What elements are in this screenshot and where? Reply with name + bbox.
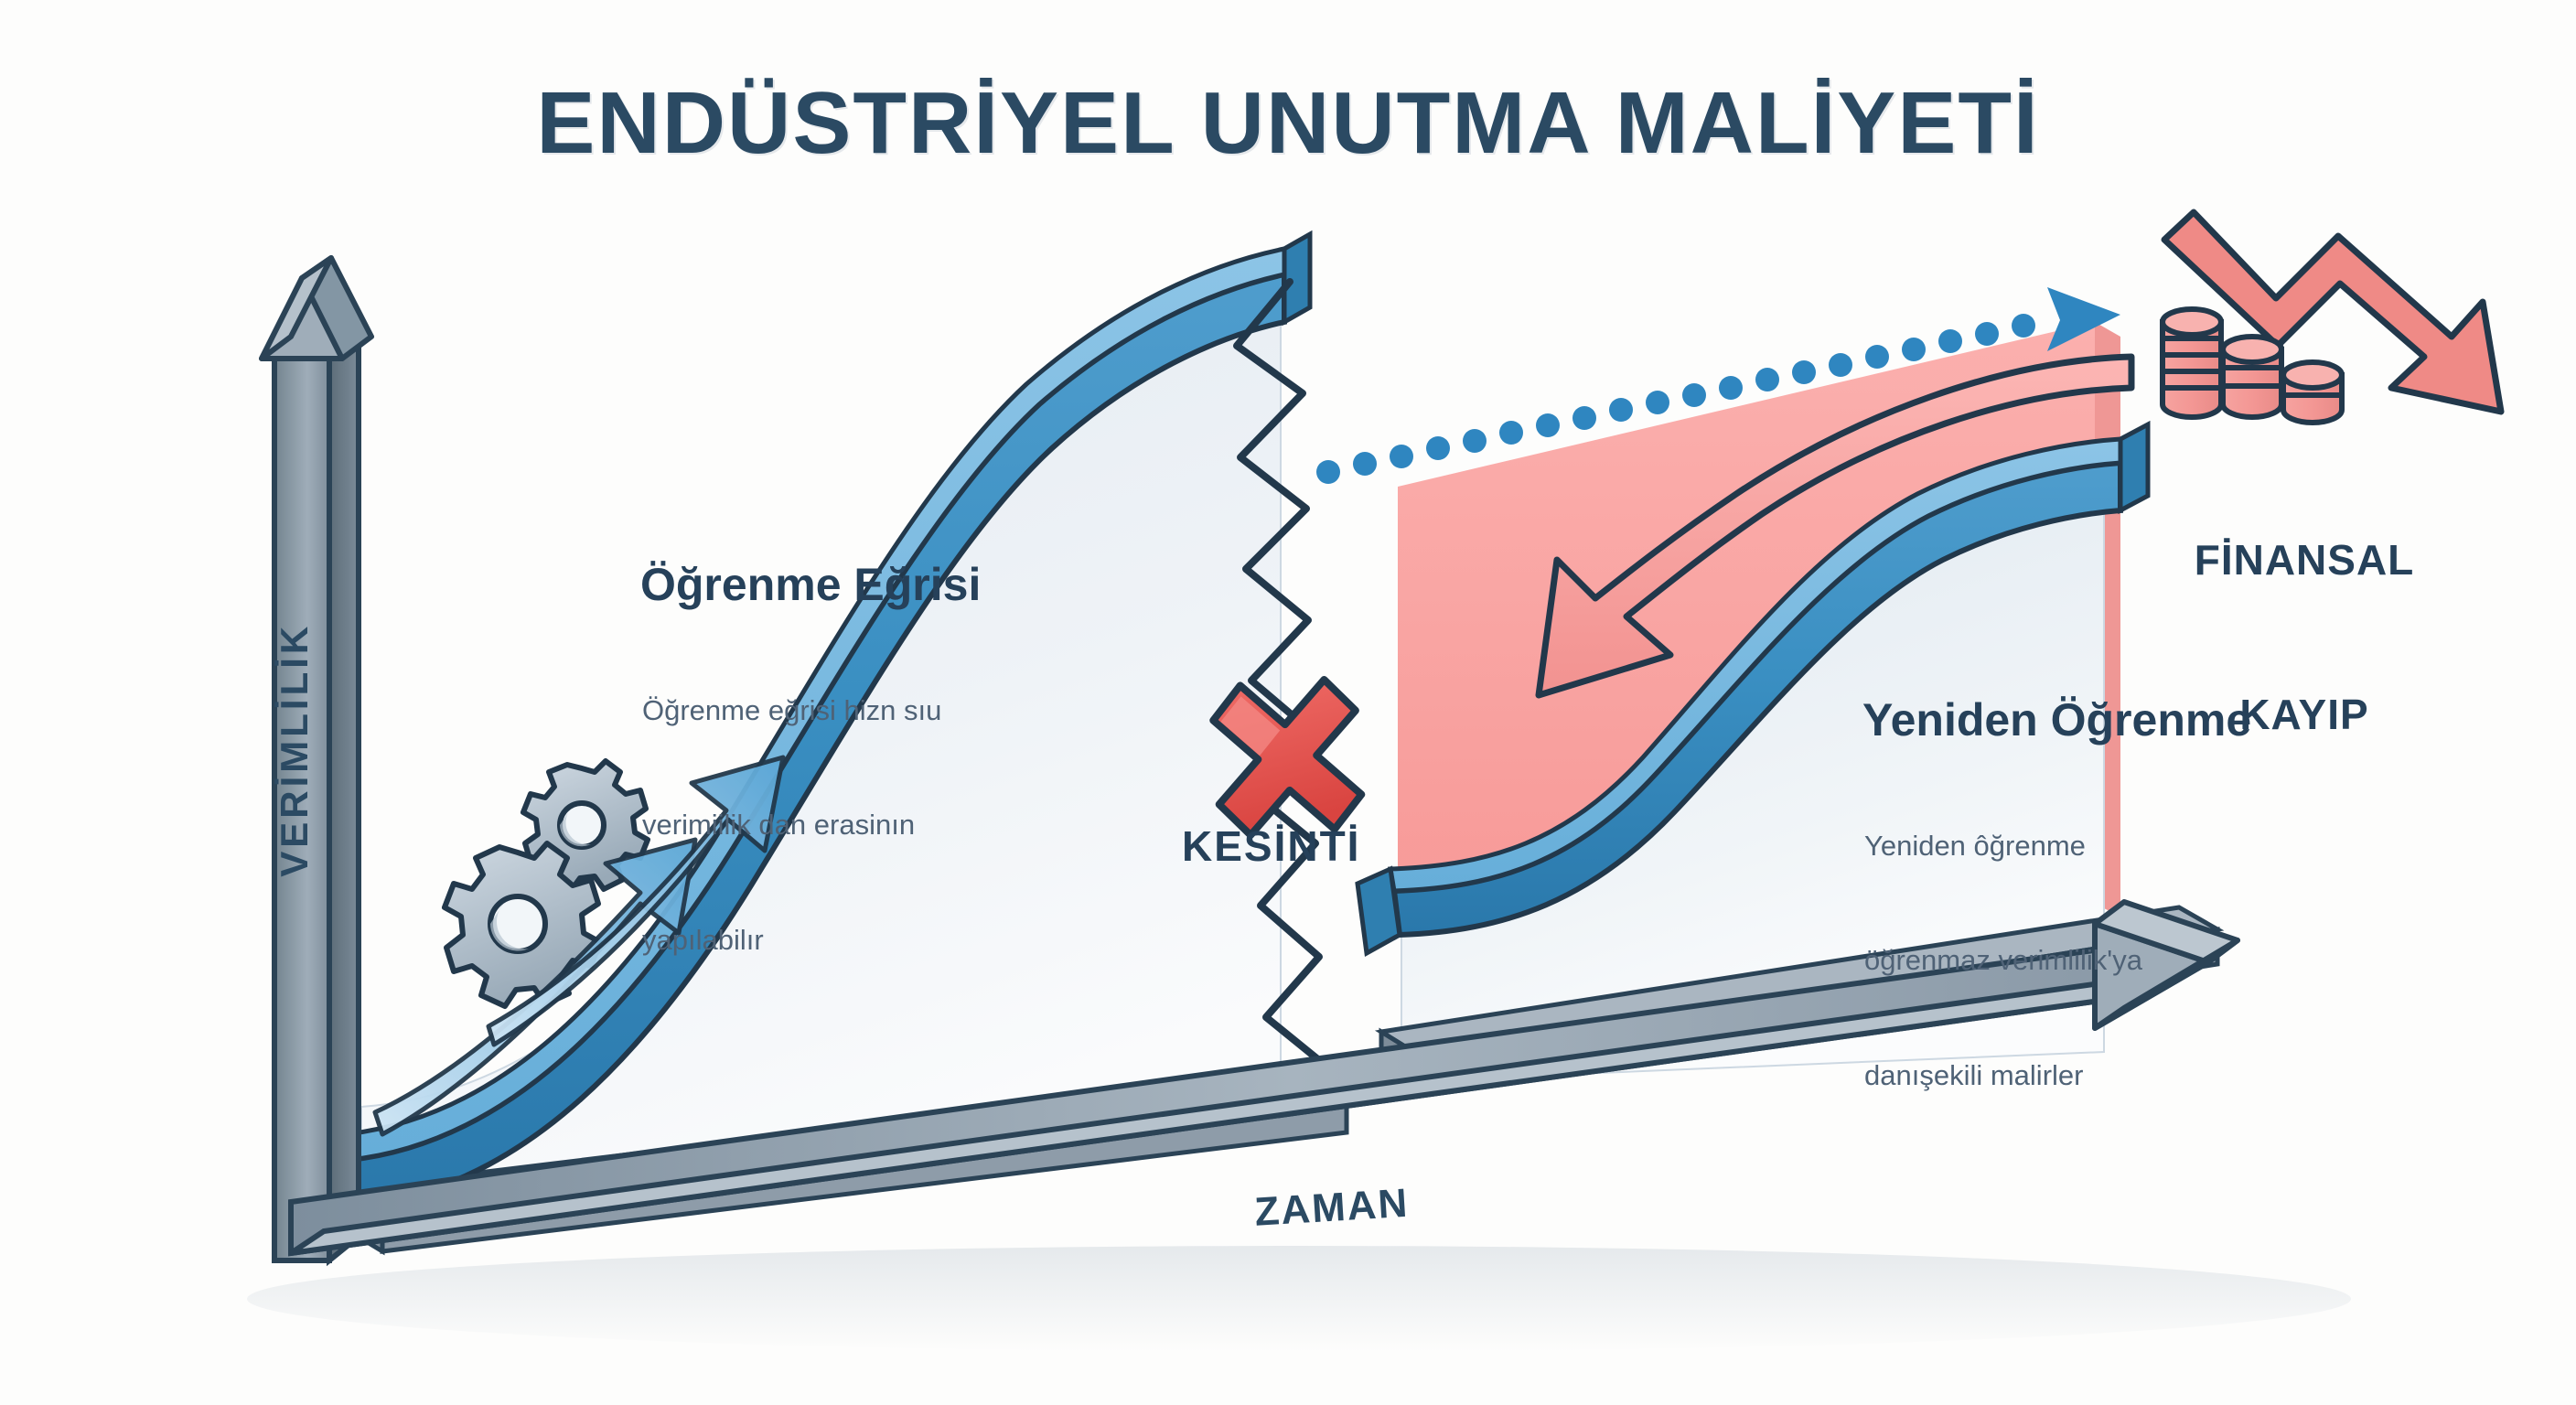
learning-curve-body-line-2: verimiilik dan erasinın bbox=[642, 806, 941, 844]
relearning-body-line-1: Yeniden ôğrenme bbox=[1864, 827, 2142, 865]
relearning-body: Yeniden ôğrenme öğrenmaz verimlilik'ya d… bbox=[1864, 750, 2142, 1171]
page-title: ENDÜSTRİYEL UNUTMA MALİYETİ bbox=[0, 71, 2576, 175]
financial-loss-label-line-2: KAYIP bbox=[2153, 689, 2455, 740]
learning-curve-body: Öğrenme eğrisi hizn sıu verimiilik dan e… bbox=[642, 615, 941, 1035]
x-axis-label: ZAMAN bbox=[1253, 1180, 1411, 1237]
infographic-canvas: ENDÜSTRİYEL UNUTMA MALİYETİ VERİMLİLİK Z… bbox=[0, 0, 2576, 1405]
learning-curve-body-line-1: Öğrenme eğrisi hizn sıu bbox=[642, 692, 941, 730]
learning-curve-heading: Öğrenme Eğrisi bbox=[640, 558, 981, 612]
financial-loss-label: FİNANSAL KAYIP bbox=[2153, 432, 2455, 842]
financial-loss-label-line-1: FİNANSAL bbox=[2153, 534, 2455, 585]
learning-curve-body-line-3: yapılabilır bbox=[642, 921, 941, 960]
relearning-body-line-2: öğrenmaz verimlilik'ya bbox=[1864, 941, 2142, 980]
interruption-label: KESİNTİ bbox=[1182, 821, 1360, 871]
y-axis-label: VERİMLİLİK bbox=[272, 585, 317, 915]
relearning-body-line-3: danışekili malirler bbox=[1864, 1056, 2142, 1095]
coin-stacks-icon bbox=[2163, 309, 2342, 423]
